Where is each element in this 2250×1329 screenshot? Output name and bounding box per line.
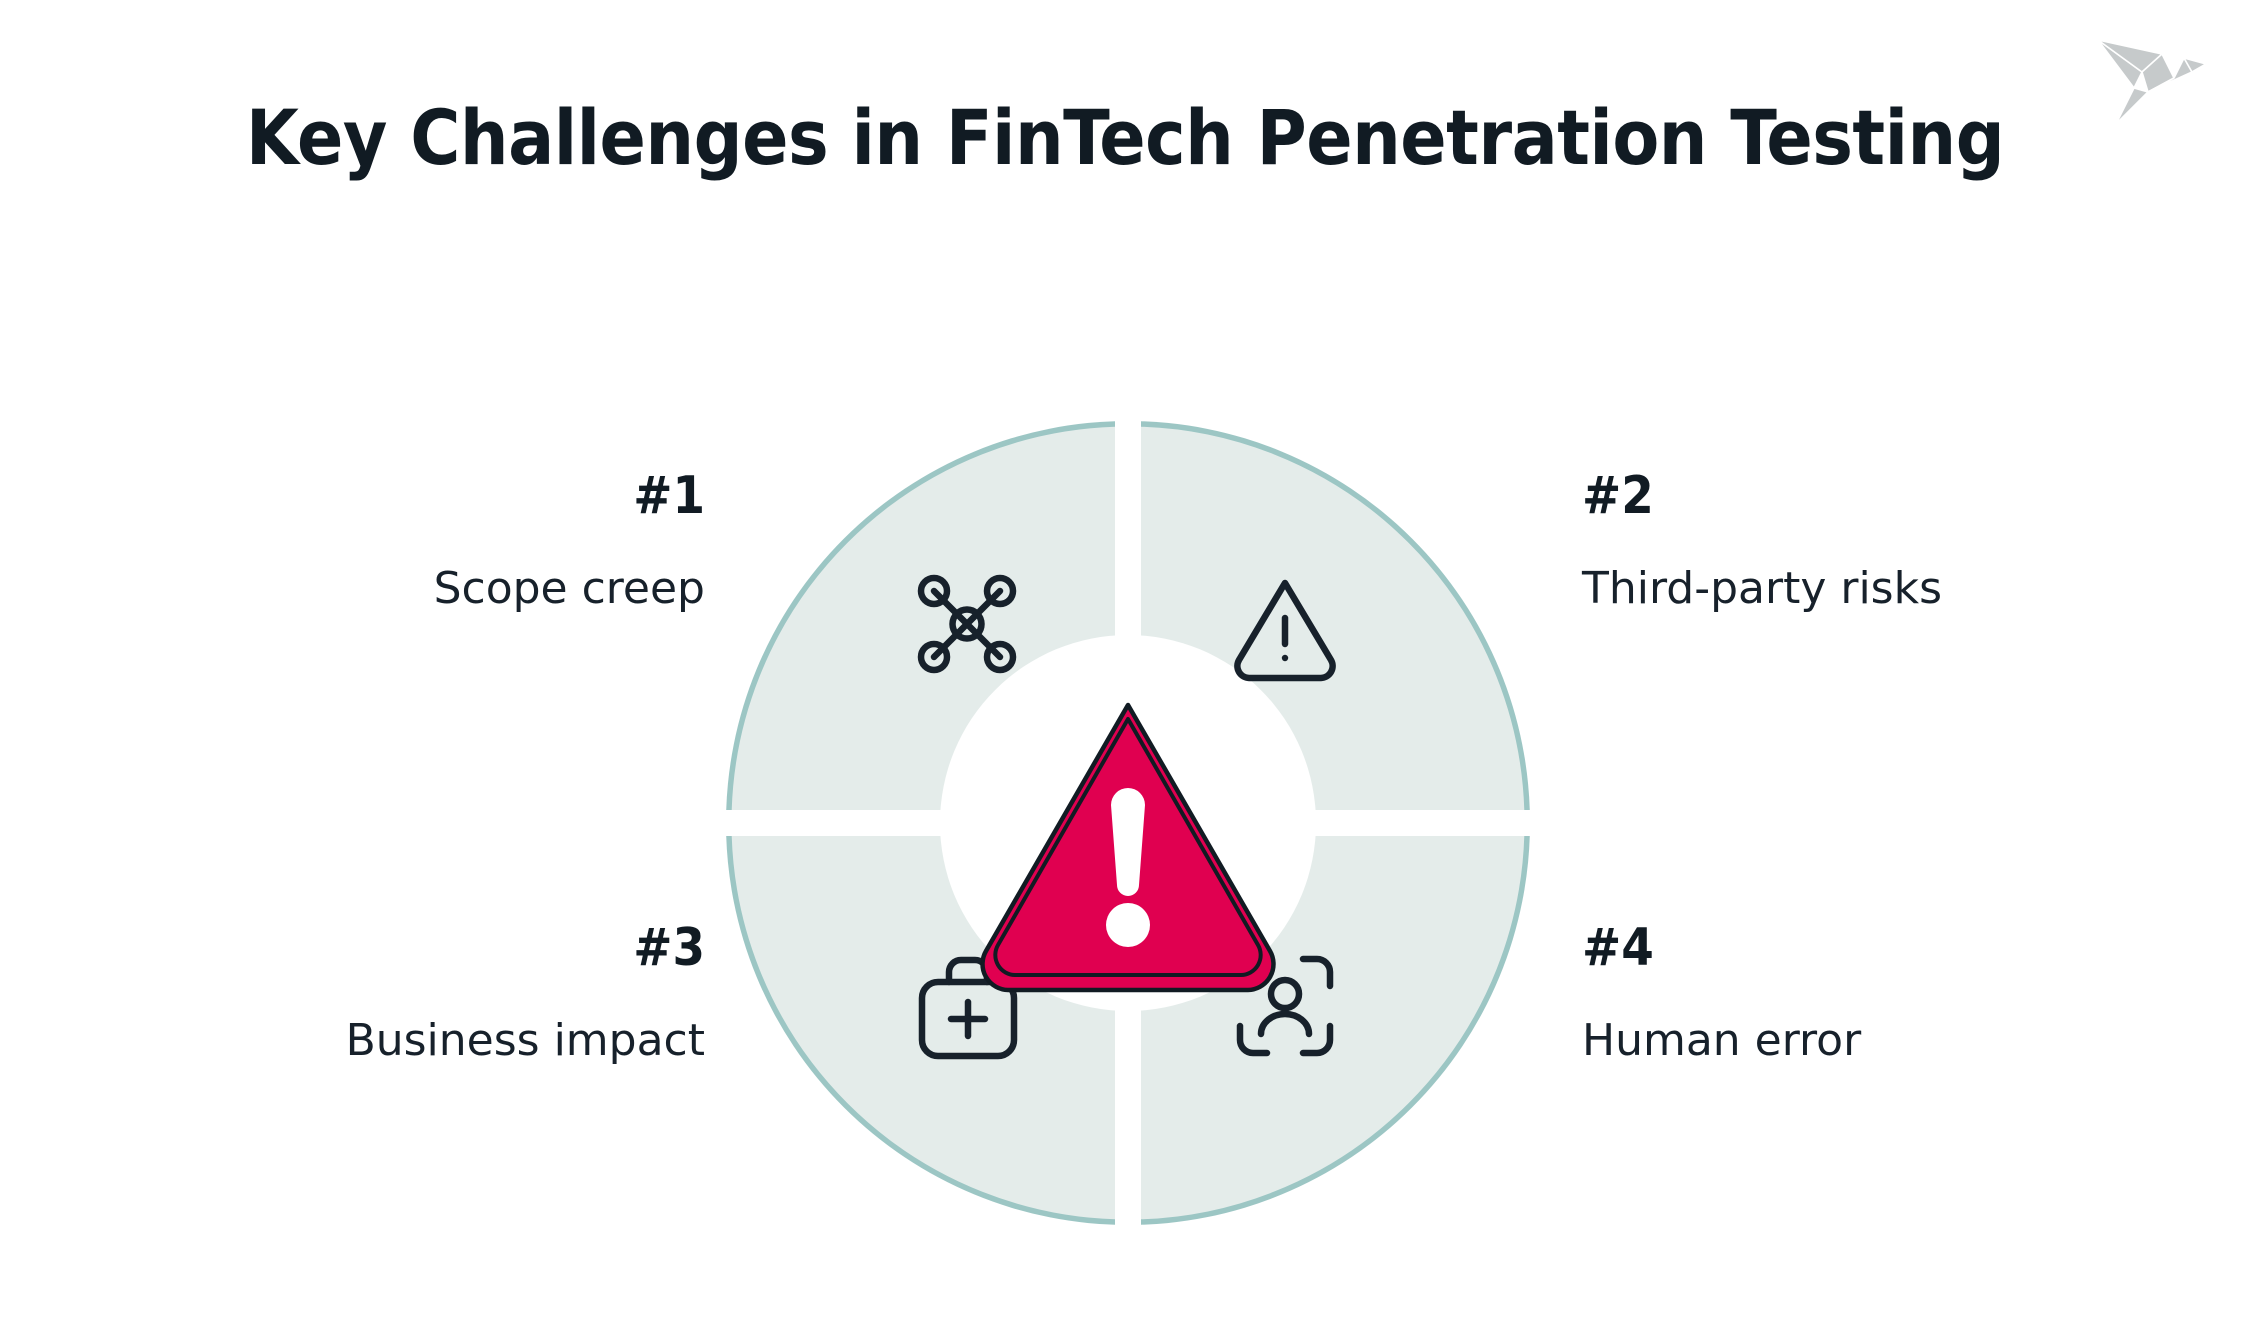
challenge-label-2: #2 Third-party risks <box>1582 468 2102 616</box>
challenge-number-4: #4 <box>1582 920 2102 977</box>
challenge-number-1: #1 <box>185 468 705 525</box>
challenge-text-3: Business impact <box>185 1015 705 1068</box>
challenge-label-1: #1 Scope creep <box>185 468 705 616</box>
page-title: Key Challenges in FinTech Penetration Te… <box>225 90 2025 186</box>
challenge-number-2: #2 <box>1582 468 2102 525</box>
challenge-text-4: Human error <box>1582 1015 2102 1068</box>
challenge-text-1: Scope creep <box>185 563 705 616</box>
challenge-text-2: Third-party risks <box>1582 563 2102 616</box>
challenge-label-3: #3 Business impact <box>185 920 705 1068</box>
challenge-number-3: #3 <box>185 920 705 977</box>
origami-bird-logo <box>2096 18 2236 138</box>
challenge-label-4: #4 Human error <box>1582 920 2102 1068</box>
infographic-page: Key Challenges in FinTech Penetration Te… <box>0 0 2250 1329</box>
quadrant-donut-chart <box>723 418 1533 1228</box>
